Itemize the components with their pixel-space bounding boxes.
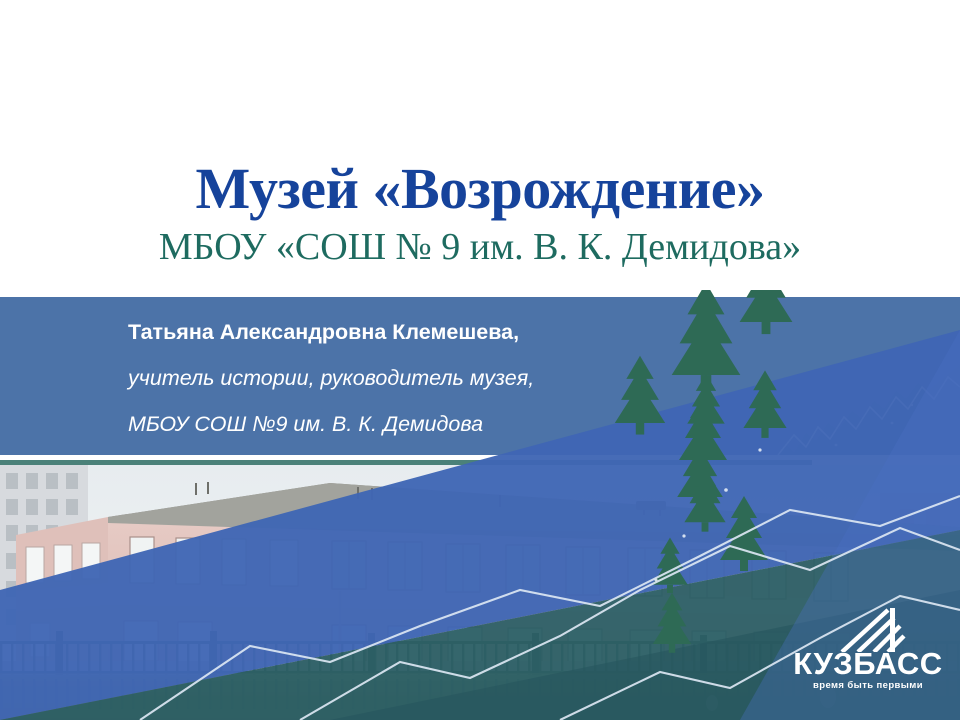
author-role: учитель истории, руководитель музея, <box>128 355 534 401</box>
page-subtitle: МБОУ «СОШ № 9 им. В. К. Демидова» <box>0 228 960 268</box>
author-name: Татьяна Александровна Клемешева, <box>128 309 534 355</box>
kuzbass-tagline: время быть первыми <box>784 680 952 691</box>
presentation-slide: Музей «Возрождение» МБОУ «СОШ № 9 им. В.… <box>0 0 960 720</box>
kuzbass-logo: КУЗБАСС время быть первыми <box>784 604 952 700</box>
author-banner: Татьяна Александровна Клемешева, учитель… <box>0 297 960 455</box>
mountain-peaks-icon <box>660 365 960 455</box>
kuzbass-wordmark: КУЗБАСС <box>784 648 952 680</box>
title-block: Музей «Возрождение» МБОУ «СОШ № 9 им. В.… <box>0 160 960 268</box>
page-title: Музей «Возрождение» <box>0 160 960 218</box>
kuzbass-mark-icon <box>784 604 952 652</box>
author-organization: МБОУ СОШ №9 им. В. К. Демидова <box>128 401 534 447</box>
author-lines: Татьяна Александровна Клемешева, учитель… <box>128 309 534 447</box>
